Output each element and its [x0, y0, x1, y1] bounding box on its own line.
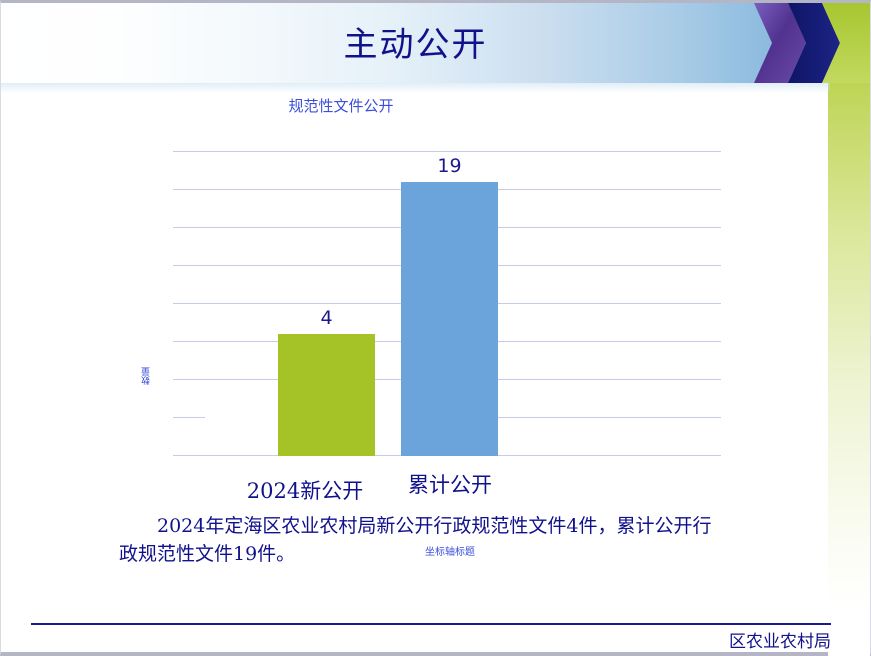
gridline [173, 151, 721, 152]
presentation-slide: 主动公开 规范性文件公开 4 19 数量 坐标轴标题 2024新公开 [0, 0, 871, 656]
bar-chart: 规范性文件公开 4 19 数量 坐标轴标题 2024新公开 累计公开 [1, 95, 830, 505]
bar-2024-new [278, 334, 375, 456]
footer-divider [31, 623, 831, 625]
y-axis-title: 数量 [140, 367, 153, 385]
bar-cumulative [401, 182, 498, 456]
chart-plot-area: 4 19 [173, 151, 721, 456]
right-accent-strip [828, 3, 870, 656]
category-label-cumulative: 累计公开 [387, 469, 513, 499]
body-line-1: 2024年定海区农业农村局新公开行政规范性文件4件， [157, 515, 616, 537]
gridline [173, 417, 205, 418]
bar-value-label-cumulative: 19 [401, 155, 498, 177]
footer-organization: 区农业农村局 [601, 627, 831, 652]
bar-value-label-2024-new: 4 [278, 307, 375, 329]
page-title: 主动公开 [1, 17, 830, 66]
chart-title: 规范性文件公开 [1, 95, 681, 116]
body-paragraph: 2024年定海区农业农村局新公开行政规范性文件4件，累计公开行政规范性文件19件… [119, 512, 719, 568]
category-label-2024-new: 2024新公开 [223, 475, 387, 505]
header-fade-shadow [1, 83, 830, 93]
